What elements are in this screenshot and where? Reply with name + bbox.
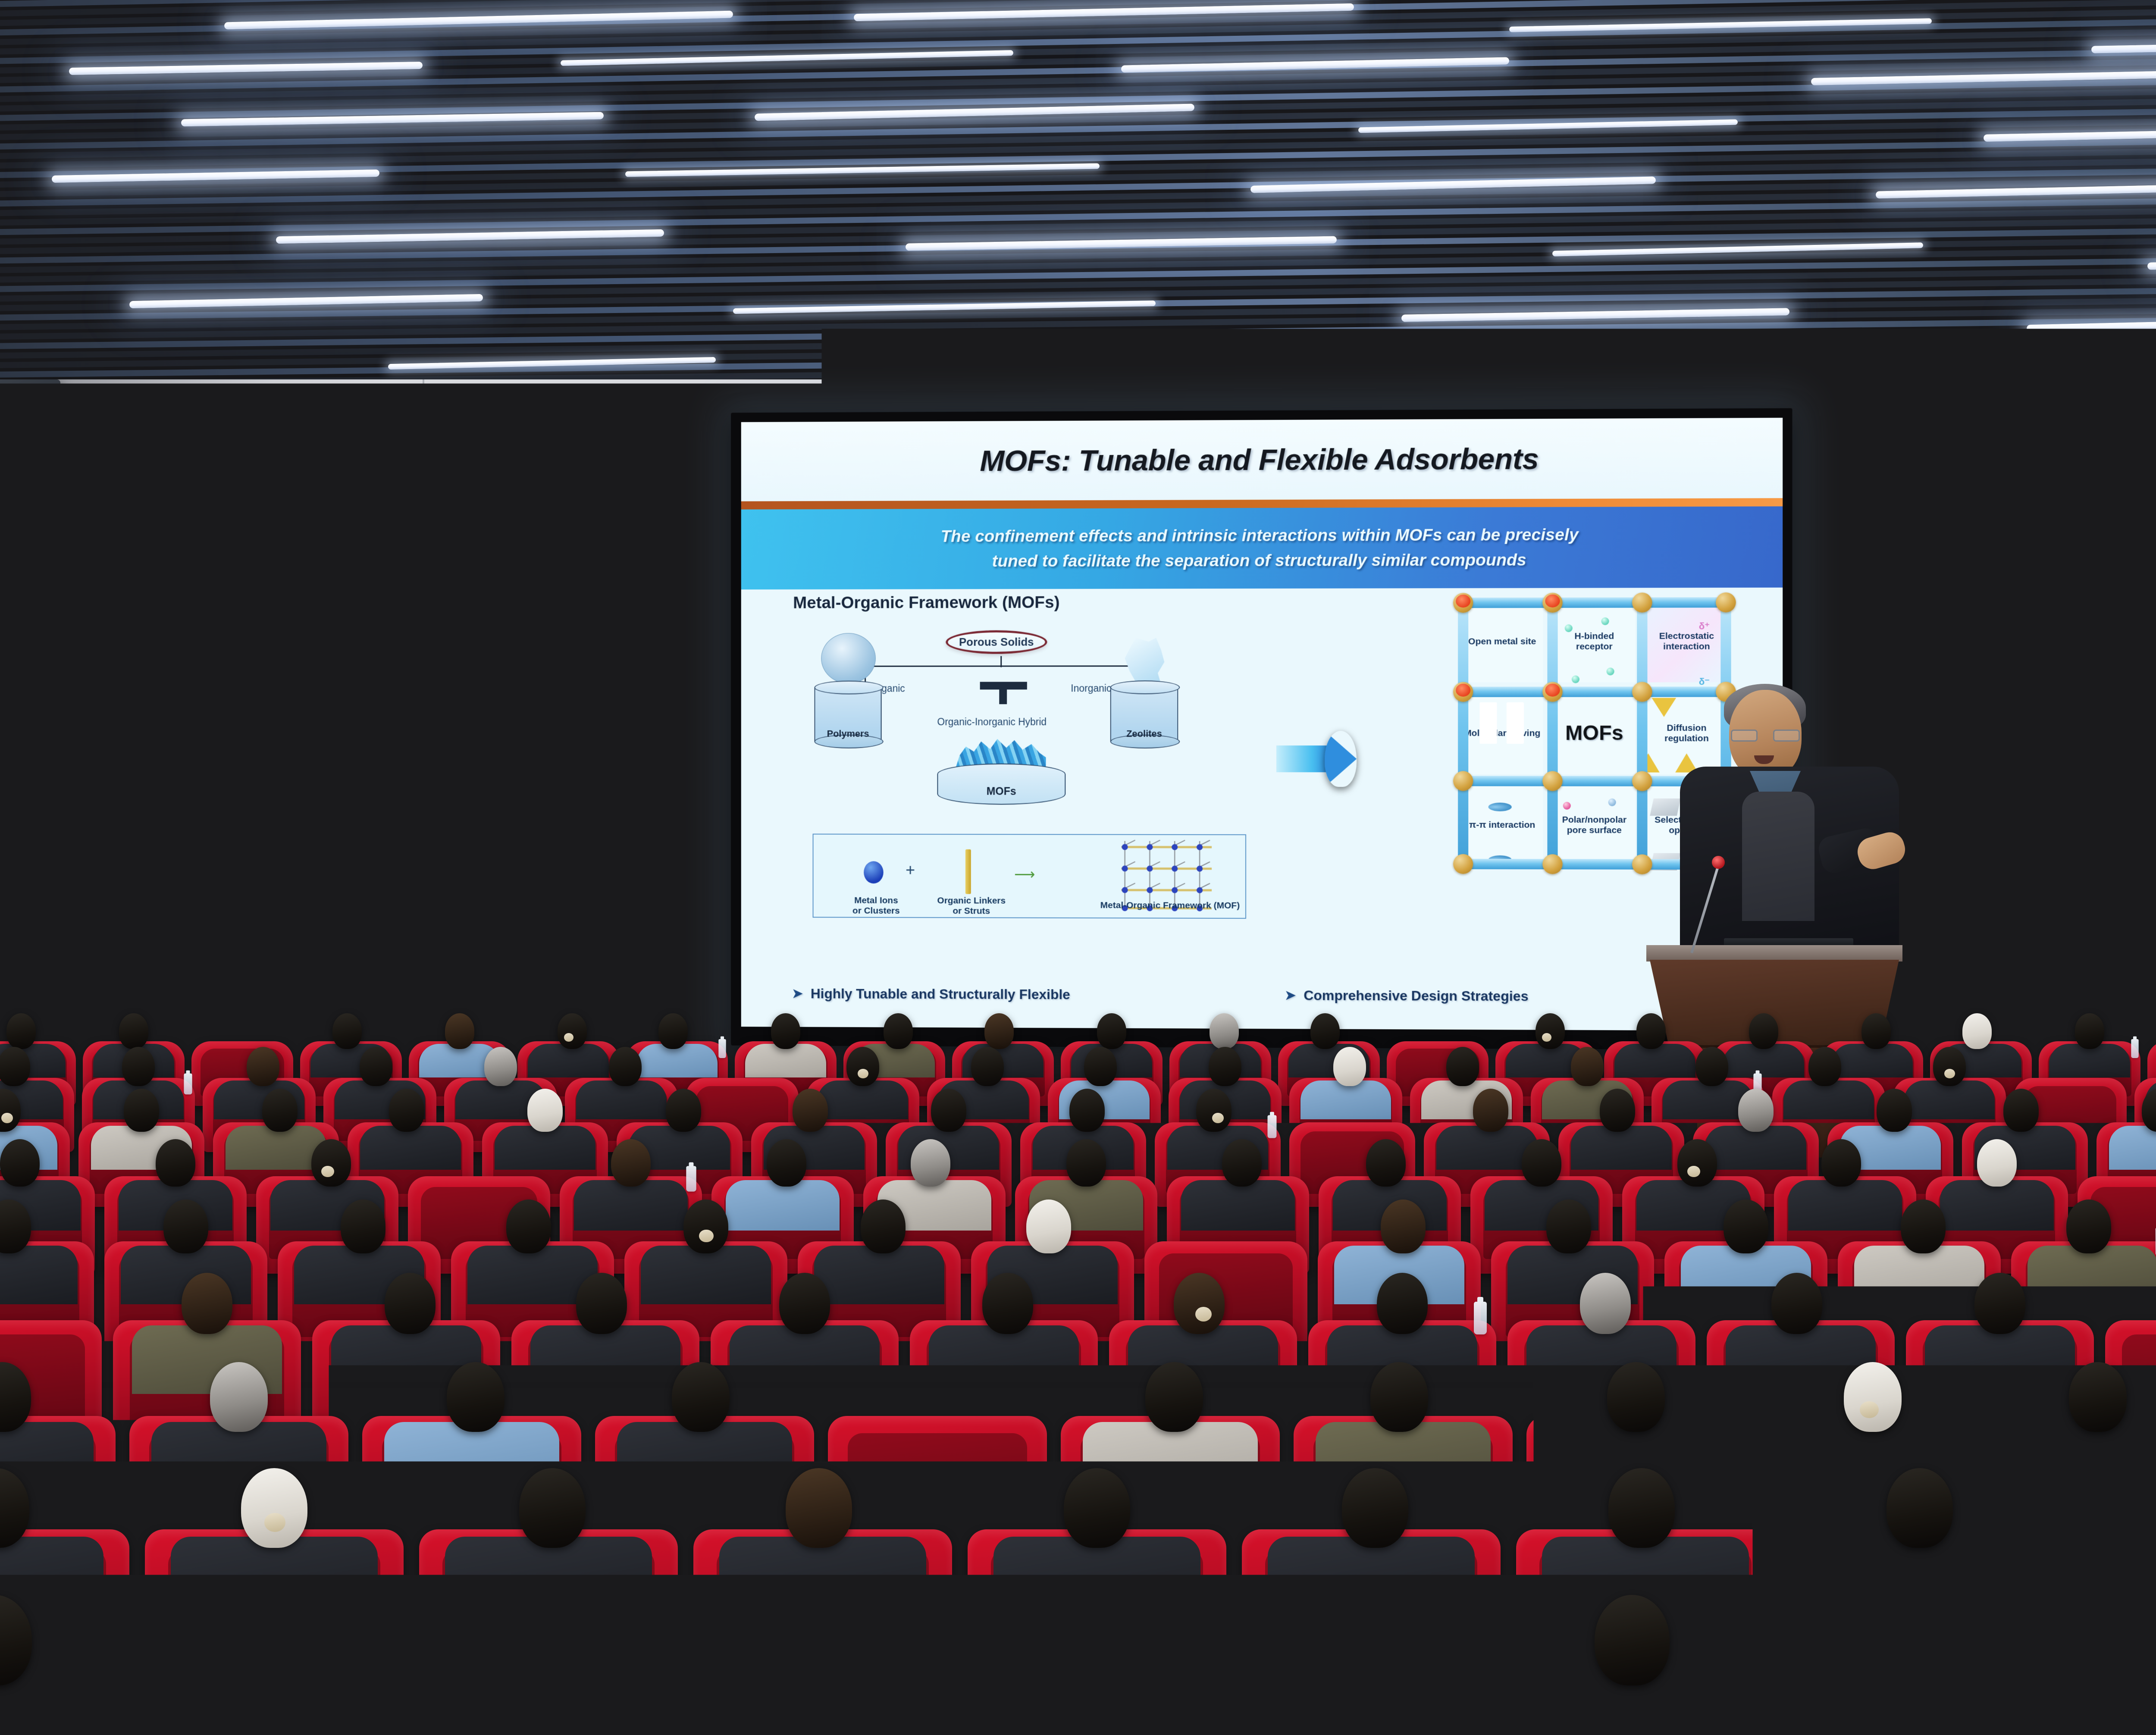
reaction-arrow-icon: ⟶: [1014, 866, 1035, 883]
audience-member-shoulders: [1723, 1044, 1805, 1077]
power-label: 电源: [208, 748, 218, 755]
hbond-dot-icon: [1565, 624, 1573, 632]
metal-node-icon: [1542, 682, 1562, 702]
audience-member-head: [1381, 1199, 1426, 1253]
audience-member-shoulders: [2028, 1246, 2156, 1304]
audience-member-head: [1749, 1013, 1778, 1049]
phase-letter-c: C: [210, 714, 216, 724]
audience-member-head: [1522, 1139, 1561, 1187]
grid-strut-col2: [1637, 595, 1647, 872]
audience-member-shoulders: [576, 1080, 667, 1119]
audience-member-head: [0, 1139, 40, 1187]
audience-member-head: [771, 1013, 800, 1049]
audience-member-head: [360, 1047, 392, 1086]
audience-member-head: [2066, 1199, 2111, 1253]
audience-seat: [171, 1664, 478, 1735]
metal-node-icon: [1632, 771, 1652, 791]
audience-member-head: [1069, 1089, 1105, 1131]
organic-linker-rod-icon: [965, 849, 971, 894]
metal-ion-sphere-icon: [864, 861, 884, 883]
grid-cell-h-binded-receptor: H-binded receptor: [1554, 601, 1636, 682]
block-label-organic-linkers: Organic Linkers or Struts: [937, 896, 1006, 916]
metal-node-icon: [1453, 854, 1473, 874]
metal-node-icon: [1542, 854, 1562, 874]
audience-member-head: [122, 1047, 155, 1086]
audience-member-shoulders: [0, 1246, 78, 1304]
polymer-blob-icon: [821, 633, 876, 683]
metal-node-icon: [1453, 593, 1473, 613]
audience-member-shoulders: [719, 1537, 926, 1632]
power-indicator-lamp[interactable]: [207, 757, 219, 770]
ceiling: [0, 0, 2156, 397]
audience-member-head: [911, 1139, 950, 1187]
audience-hair-bun: [1, 1113, 13, 1123]
grid-cell-electrostatic-interaction: Electrostatic interaction: [1645, 601, 1727, 682]
audience-member-head: [971, 1047, 1004, 1086]
run-label: 运行: [143, 748, 152, 755]
audience-member-head: [1887, 1468, 1952, 1548]
audience-member-shoulders: [1571, 1126, 1672, 1170]
audience-member-shoulders: [929, 1325, 1079, 1394]
metal-node-icon: [1716, 592, 1736, 612]
phase-lamp-b: [179, 727, 192, 739]
audience-member-head: [1933, 1047, 1966, 1086]
wall-speaker-left: [0, 379, 60, 522]
audience-member-head: [1861, 1013, 1891, 1049]
audience-member-head: [6, 1013, 36, 1049]
audience-member-head: [609, 1047, 642, 1086]
audience-member-head: [1265, 1595, 1340, 1685]
audience-member-head: [262, 1089, 298, 1131]
mof-building-blocks-box: + ⟶: [813, 834, 1246, 919]
grid-cell-polar-nonpolar-surface: Polar/nonpolar pore surface: [1554, 785, 1636, 866]
grid-cell-open-metal-site: Open metal site: [1461, 601, 1543, 683]
audience-member-head: [1333, 1047, 1366, 1086]
slide-body: Metal-Organic Framework (MOFs) Porous So…: [741, 588, 1783, 1031]
run-indicator-lamp[interactable]: [143, 757, 156, 770]
audience-member-head: [1844, 1362, 1902, 1432]
pillar-label-mofs: MOFs: [938, 785, 1065, 798]
audience-member-head: [984, 1013, 1014, 1049]
left-panel-heading: Metal-Organic Framework (MOFs): [793, 593, 1059, 613]
audience-member-head: [666, 1089, 702, 1131]
audience-member-head: [558, 1013, 587, 1049]
phase-lamp-c: [207, 727, 219, 739]
speaker-cone-icon: [0, 428, 41, 474]
audience-member-shoulders: [2109, 1126, 2156, 1170]
audience-member-head: [1026, 1199, 1071, 1253]
wall-seam-right: [2139, 379, 2140, 1052]
audience-member-shoulders: [814, 1246, 944, 1304]
block-label-mof-result: Metal-Organic Framework (MOF): [1099, 900, 1241, 911]
audience-member-head: [1536, 1013, 1565, 1049]
audience-member-head: [1210, 1013, 1239, 1049]
audience-member-head: [124, 1089, 160, 1131]
pi-orbital-lobe-icon: [1488, 803, 1511, 811]
microphone-head-icon: [1712, 856, 1725, 869]
metal-node-icon: [1453, 771, 1473, 791]
audience-member-shoulders: [1705, 1126, 1806, 1170]
audience-member-head: [1600, 1089, 1636, 1131]
grid-strut-col1: [1547, 595, 1557, 872]
sieve-slot-icon: [1507, 702, 1524, 744]
audience-member-shoulders: [1832, 1044, 1913, 1077]
presenter-glasses-icon: [1731, 730, 1800, 742]
charge-label-delta-plus: δ⁺: [1699, 620, 1710, 632]
classification-bracket: [865, 665, 1138, 683]
metal-node-icon: [1632, 592, 1652, 612]
slide-banner: The confinement effects and intrinsic in…: [741, 506, 1783, 589]
water-bottle: [184, 1073, 192, 1094]
audience-member-head: [767, 1139, 806, 1187]
polar-dot-icon: [1608, 799, 1616, 806]
audience-member-head: [519, 1468, 585, 1548]
bullet-item-2: ➤ Comprehensive Design Strategies: [1285, 987, 1529, 1004]
audience-member-shoulders: [528, 1044, 609, 1077]
electrical-control-panel[interactable]: A B C 运行 停止 电源 手动 自动 使用完仪需要旋转至停止， 不要开门关闸…: [117, 696, 247, 855]
audience-member-shoulders: [171, 1537, 378, 1632]
gate-plate-icon: [1650, 799, 1680, 816]
audience-hair-bun: [1687, 1166, 1700, 1178]
projection-screen: MOFs: Tunable and Flexible Adsorbents Th…: [731, 408, 1792, 1050]
wall-seam-left: [423, 379, 424, 1112]
audience-member-head: [119, 1013, 148, 1049]
banner-line-1: The confinement effects and intrinsic in…: [941, 525, 1579, 546]
audience-member-head: [1677, 1139, 1717, 1187]
audience-member-head: [1209, 1047, 1241, 1086]
pillar-polymers: Polymers: [815, 686, 882, 743]
audience-member-head: [779, 1273, 830, 1334]
audience-member-head: [332, 1013, 362, 1049]
presenter-sweater: [1742, 792, 1814, 921]
audience-member-head: [1377, 1273, 1428, 1334]
audience-member-head: [793, 1089, 828, 1131]
audience-member-shoulders: [2049, 1044, 2131, 1077]
audience-member-shoulders: [530, 1325, 681, 1394]
audience-member-head: [241, 1468, 307, 1548]
branch-hybrid-label: Organic-Inorganic Hybrid: [937, 716, 1047, 728]
water-bottle: [1474, 1302, 1487, 1334]
sieve-slot-icon: [1479, 702, 1497, 744]
polar-dot-icon: [1563, 802, 1571, 810]
audience-member-shoulders: [0, 1673, 121, 1735]
audience-member-shoulders: [636, 1044, 718, 1077]
audience-member-head: [935, 1595, 1010, 1685]
phase-letter-b: B: [182, 714, 188, 724]
audience-hair-bun: [264, 1513, 285, 1532]
audience-member-head: [1913, 1595, 1988, 1685]
audience-member-head: [210, 1362, 268, 1432]
audience-member-head: [1174, 1273, 1225, 1334]
audience-member-head: [0, 1047, 30, 1086]
audience-member-head: [982, 1273, 1033, 1334]
audience-member-head: [527, 1089, 563, 1131]
bracket-stem: [1000, 656, 1002, 667]
audience-member-head: [1342, 1468, 1408, 1548]
pillar-label-zeolites: Zeolites: [1111, 728, 1177, 739]
audience-member-head: [658, 1013, 688, 1049]
bullet-item-1: ➤ Highly Tunable and Structurally Flexib…: [792, 986, 1070, 1002]
audience-member-head: [1145, 1362, 1203, 1432]
panel-spec-plate: [209, 829, 241, 850]
water-bottle: [1267, 1115, 1276, 1138]
audience-member-head: [1808, 1047, 1841, 1086]
audience-member-shoulders: [1925, 1325, 2075, 1394]
audience-member-head: [1473, 1089, 1509, 1131]
notice-line-1: 使用完仪需要旋转至停止，: [142, 808, 222, 817]
audience-member-shoulders: [1854, 1246, 1984, 1304]
audience-member-head: [1977, 1139, 2017, 1187]
audience-member-head: [1571, 1047, 1604, 1086]
audience-seat: [2127, 1664, 2156, 1735]
metal-node-icon: [1542, 771, 1562, 791]
audience-member-head: [1366, 1139, 1406, 1187]
audience-member-head: [1607, 1362, 1665, 1432]
panel-door-handle[interactable]: [238, 770, 248, 797]
audience-member-shoulders: [617, 1422, 792, 1503]
hbond-dot-icon: [1601, 617, 1609, 625]
audience-hair-bun: [564, 1033, 573, 1042]
charge-label-delta-minus: δ⁻: [1699, 676, 1710, 687]
diffusion-triangle-icon: [1652, 698, 1677, 717]
audience-member-head: [247, 1047, 279, 1086]
speaker-badge: [52, 455, 58, 464]
audience-member-head: [1595, 1595, 1670, 1685]
audience-member-head: [311, 1139, 351, 1187]
audience-member-shoulders: [445, 1537, 652, 1632]
grid-cell-pi-pi-interaction: π-π interaction: [1461, 784, 1543, 866]
pillar-label-polymers: Polymers: [815, 728, 881, 739]
block-label-metal-ions: Metal Ions or Clusters: [844, 896, 908, 916]
audience-member-head: [861, 1199, 906, 1253]
audience-member-shoulders: [1181, 1180, 1295, 1231]
audience-member-head: [611, 1139, 651, 1187]
audience-member-head: [1962, 1013, 1992, 1049]
metal-node-icon: [1453, 682, 1473, 702]
audience-member-head: [1821, 1139, 1861, 1187]
audience-member-head: [1724, 1199, 1768, 1253]
hybrid-t-arrow-stem: [999, 682, 1007, 704]
audience-member-head: [163, 1199, 208, 1253]
audience-member-head: [1974, 1273, 2025, 1334]
audience-member-head: [1196, 1089, 1232, 1131]
audience-member-head: [576, 1273, 627, 1334]
audience-member-head: [786, 1468, 852, 1548]
audience-member-shoulders: [993, 1537, 1200, 1632]
audience-member-shoulders: [360, 1126, 461, 1170]
audience-member-head: [156, 1139, 195, 1187]
audience-member-shoulders: [745, 1044, 827, 1077]
porous-solids-label: Porous Solids: [946, 630, 1047, 654]
slide-title-area: MOFs: Tunable and Flexible Adsorbents: [741, 418, 1783, 501]
audience-member-head: [1064, 1468, 1130, 1548]
water-bottle: [718, 1039, 726, 1058]
metal-node-icon: [1542, 593, 1562, 613]
audience-member-head: [1066, 1139, 1106, 1187]
transition-arrow-icon: [1276, 727, 1358, 791]
stop-selector-knob[interactable]: [179, 757, 192, 770]
audience-member-shoulders: [1788, 1180, 1902, 1231]
audience-member-head: [1097, 1013, 1126, 1049]
audience-hair-bun: [1860, 1401, 1878, 1418]
audience-member-shoulders: [574, 1180, 688, 1231]
audience-member-head: [2003, 1089, 2039, 1131]
branch-inorganic-label: Inorganic: [1071, 683, 1111, 694]
speaker-slot: [44, 402, 46, 497]
metal-node-icon: [1632, 854, 1652, 874]
water-bottle: [2131, 1039, 2138, 1058]
audience-member-head: [1546, 1199, 1591, 1253]
audience-member-head: [1877, 1089, 1912, 1131]
stop-label: 停止: [179, 745, 188, 752]
pillar-mofs: MOFs: [937, 764, 1065, 805]
audience-member-head: [2069, 1362, 2127, 1432]
audience-member-head: [484, 1047, 517, 1086]
water-bottle: [686, 1166, 696, 1192]
audience-member-head: [1084, 1047, 1117, 1086]
audience-member-head: [2075, 1013, 2104, 1049]
presentation-slide: MOFs: Tunable and Flexible Adsorbents Th…: [741, 418, 1783, 1031]
grid-cell-mofs-center: MOFs: [1554, 693, 1636, 774]
audience-member-shoulders: [730, 1325, 880, 1394]
slide-title: MOFs: Tunable and Flexible Adsorbents: [980, 442, 1539, 478]
plus-operator: +: [906, 861, 915, 880]
hbond-dot-icon: [1607, 667, 1614, 675]
audience-member-shoulders: [641, 1246, 771, 1304]
mof-cluster-icon: [956, 735, 1046, 767]
bullet-marker-icon: ➤: [1285, 988, 1296, 1003]
audience-member-shoulders: [1300, 1080, 1391, 1119]
hbond-dot-icon: [1572, 675, 1579, 683]
audience-member-head: [683, 1199, 728, 1253]
audience-member-head: [506, 1199, 551, 1253]
audience-member-head: [341, 1199, 385, 1253]
bullet-marker-icon: ➤: [792, 986, 803, 1001]
audience-member-head: [617, 1595, 692, 1685]
audience-member-head: [1580, 1273, 1631, 1334]
audience-hair-bun: [699, 1230, 713, 1243]
bullet-text-2: Comprehensive Design Strategies: [1304, 987, 1528, 1004]
audience-member-head: [445, 1013, 474, 1049]
audience-seating: [0, 1005, 2156, 1735]
pillar-zeolites: Zeolites: [1110, 686, 1178, 743]
audience-hair-bun: [858, 1069, 868, 1078]
audience-member-head: [846, 1047, 879, 1086]
audience-member-head: [931, 1089, 967, 1131]
audience-member-head: [1446, 1047, 1479, 1086]
audience-member-head: [182, 1273, 232, 1334]
audience-member-head: [385, 1273, 436, 1334]
audience-member-head: [389, 1089, 425, 1131]
audience-member-shoulders: [2014, 1422, 2156, 1503]
mof-overview-diagram: Metal-Organic Framework (MOFs) Porous So…: [787, 593, 1271, 921]
metal-node-icon: [1632, 682, 1652, 702]
audience-hair-bun: [321, 1166, 334, 1178]
grid-strut-top: [1455, 597, 1734, 608]
audience-member-head: [1636, 1013, 1666, 1049]
audience-member-head: [1310, 1013, 1340, 1049]
audience-member-shoulders: [1940, 1180, 2054, 1231]
audience-member-head: [1771, 1273, 1822, 1334]
grid-cell-molecular-sieving: Molecular sieving: [1461, 693, 1543, 774]
audience-member-shoulders: [1783, 1080, 1874, 1119]
grid-strut-col0: [1458, 595, 1468, 872]
audience-member-shoulders: [818, 1080, 908, 1119]
audience-hair-bun: [965, 1646, 989, 1667]
audience-member-shoulders: [726, 1180, 840, 1231]
audience-member-shoulders: [495, 1126, 595, 1170]
audience-member-head: [1608, 1468, 1674, 1548]
audience-member-head: [1222, 1139, 1262, 1187]
audience-member-head: [1695, 1047, 1728, 1086]
knob-auto-label: 自动: [194, 752, 202, 757]
notice-line-2: 不要开门关闸！！！: [152, 821, 213, 830]
audience-member-head: [1738, 1089, 1774, 1131]
bullet-text-1: Highly Tunable and Structurally Flexible: [811, 986, 1070, 1002]
lecture-hall-scene: A B C 运行 停止 电源 手动 自动 使用完仪需要旋转至停止， 不要开门关闸…: [0, 0, 2156, 1735]
knob-manual-label: 手动: [167, 752, 175, 757]
audience-member-shoulders: [1614, 1044, 1696, 1077]
audience-member-shoulders: [1904, 1080, 1995, 1119]
phase-letter-a: A: [146, 714, 152, 724]
audience-member-head: [884, 1013, 913, 1049]
audience-member-head: [447, 1362, 505, 1432]
phase-lamp-a: [143, 727, 156, 739]
audience-member-head: [672, 1362, 730, 1432]
audience-hair-bun: [1944, 1069, 1955, 1078]
audience-hair-bun: [1212, 1113, 1224, 1123]
audience-member-head: [1370, 1362, 1429, 1432]
banner-line-2: tuned to facilitate the separation of st…: [992, 551, 1526, 571]
audience-hair-bun: [1542, 1033, 1551, 1042]
audience-member-head: [1901, 1199, 1946, 1253]
podium-top-surface: [1646, 945, 1902, 961]
